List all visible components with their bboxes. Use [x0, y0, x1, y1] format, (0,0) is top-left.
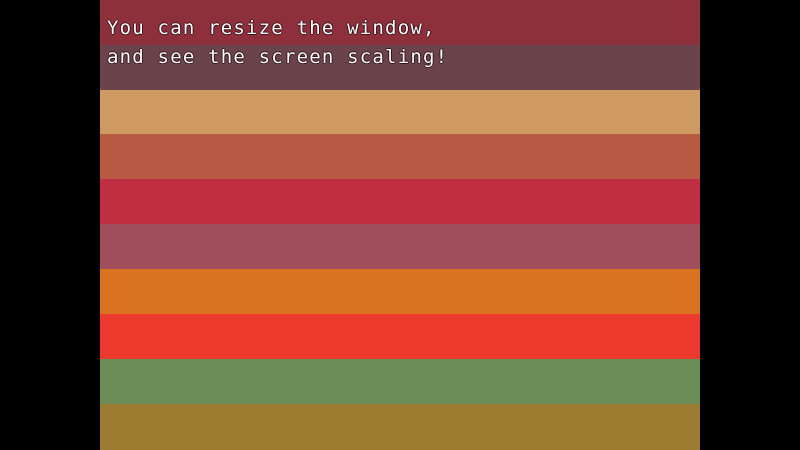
- band-tan: [100, 90, 700, 134]
- band-ochre: [100, 404, 700, 450]
- color-band-stack: [100, 0, 700, 450]
- band-orange: [100, 269, 700, 314]
- band-muted-maroon: [100, 45, 700, 90]
- letterbox-bar-left: [0, 0, 100, 450]
- scaled-viewport: You can resize the window, and see the s…: [100, 0, 700, 450]
- band-crimson: [100, 179, 700, 224]
- band-rose: [100, 224, 700, 269]
- band-red-orange: [100, 314, 700, 359]
- band-green: [100, 359, 700, 404]
- band-brick: [100, 134, 700, 179]
- app-window: You can resize the window, and see the s…: [0, 0, 800, 450]
- letterbox-bar-right: [700, 0, 800, 450]
- band-dark-red: [100, 0, 700, 45]
